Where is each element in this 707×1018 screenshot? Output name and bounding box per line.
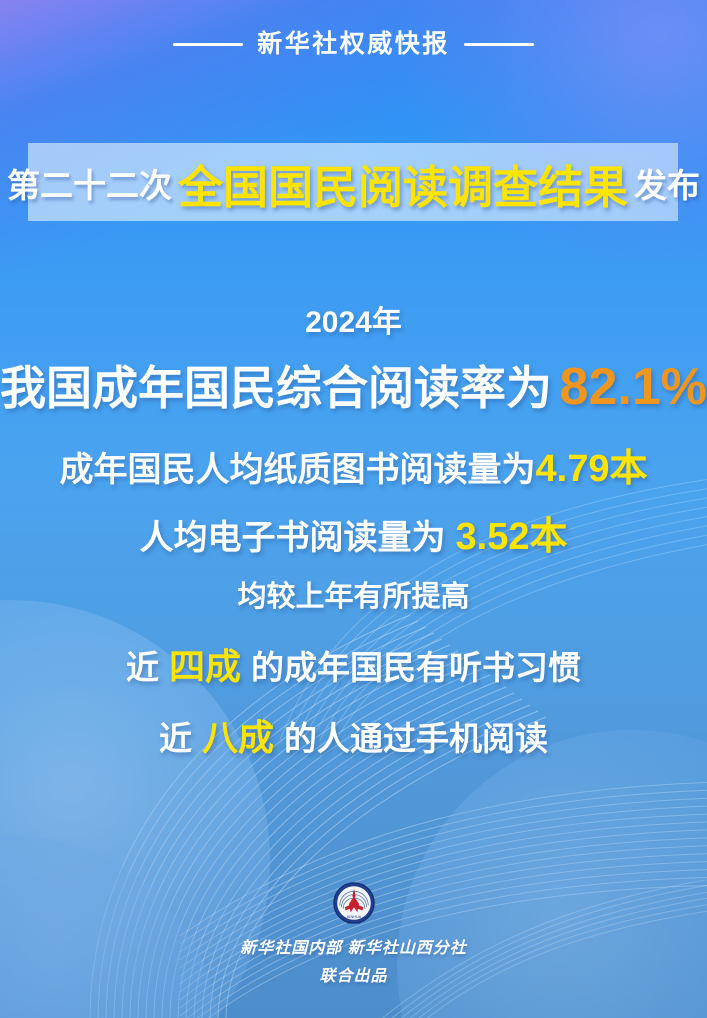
line-audiobook-habit: 近 四成 的成年国民有听书习惯	[0, 638, 707, 690]
phone-reading-suffix: 的人通过手机阅读	[284, 712, 548, 760]
phone-reading-value: 八成	[202, 709, 274, 761]
overall-reading-rate-value: 82.1%	[560, 357, 707, 417]
footer-line-1: 新华社国内部 新华社山西分社	[0, 935, 707, 963]
footer-logo-wrap: XINHUA	[0, 882, 707, 924]
audiobook-value: 四成	[169, 638, 241, 690]
line-phone-reading: 近 八成 的人通过手机阅读	[0, 709, 707, 761]
audiobook-prefix: 近	[126, 641, 159, 689]
footer-line-2: 联合出品	[0, 963, 707, 991]
line-paper-books: 成年国民人均纸质图书阅读量为 4.79本	[0, 437, 707, 492]
poster-header: 新华社权威快报	[0, 32, 707, 57]
ebooks-label: 人均电子书阅读量为	[140, 510, 446, 559]
paper-books-value: 4.79本	[536, 437, 648, 492]
svg-text:XINHUA: XINHUA	[346, 914, 361, 919]
footer-credits: 新华社国内部 新华社山西分社 联合出品	[0, 935, 707, 991]
title-suffix: 发布	[634, 159, 700, 207]
title-banner: 第二十二次 全国国民阅读调查结果 发布	[0, 150, 707, 216]
xinhua-emblem-icon: XINHUA	[333, 882, 375, 924]
rule-left-icon	[173, 43, 243, 46]
line-year: 2024年	[0, 297, 707, 341]
title-prefix: 第二十二次	[7, 159, 172, 207]
year-over-year-note: 均较上年有所提高	[237, 573, 469, 615]
year-label: 2024年	[305, 297, 402, 341]
phone-reading-prefix: 近	[159, 712, 192, 760]
line-year-over-year-note: 均较上年有所提高	[0, 573, 707, 615]
rule-right-icon	[464, 43, 534, 46]
audiobook-suffix: 的成年国民有听书习惯	[251, 641, 581, 689]
line-overall-reading-rate: 我国成年国民综合阅读率为 82.1%	[0, 352, 707, 418]
overall-reading-rate-label: 我国成年国民综合阅读率为	[0, 352, 552, 418]
line-ebooks: 人均电子书阅读量为 3.52本	[0, 505, 707, 560]
ebooks-value: 3.52本	[456, 505, 568, 560]
header-title: 新华社权威快报	[257, 32, 450, 57]
infographic-poster: 新华社权威快报 第二十二次 全国国民阅读调查结果 发布 2024年 我国成年国民…	[0, 0, 707, 1018]
title-highlight: 全国国民阅读调查结果	[178, 151, 628, 216]
paper-books-label: 成年国民人均纸质图书阅读量为	[60, 442, 536, 491]
